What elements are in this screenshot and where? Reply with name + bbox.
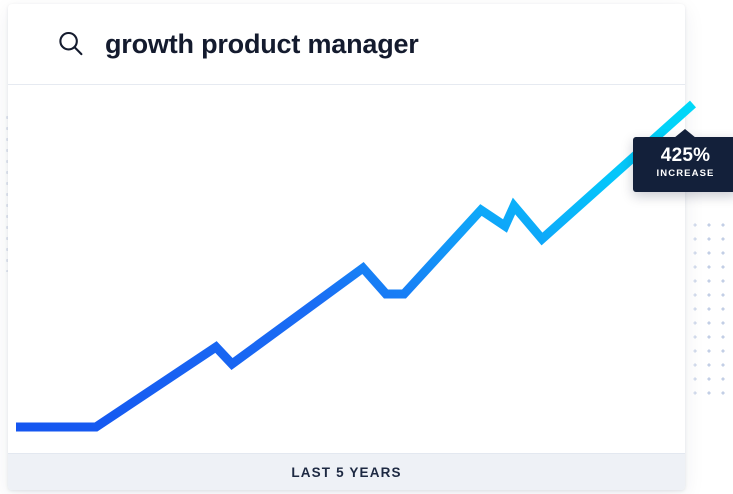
tooltip-arrow-icon	[674, 129, 696, 138]
trend-line-path	[16, 104, 693, 427]
screenshot-root: growth product manager 425% INC	[0, 0, 733, 494]
chart-svg	[8, 86, 693, 451]
search-input[interactable]: growth product manager	[105, 31, 419, 58]
search-bar[interactable]: growth product manager	[8, 4, 685, 85]
search-trend-card: growth product manager 425% INC	[8, 4, 685, 490]
growth-line-chart	[8, 86, 693, 451]
timeframe-label: LAST 5 YEARS	[291, 465, 401, 480]
search-icon[interactable]	[56, 29, 86, 59]
tooltip-value: 425%	[633, 146, 733, 166]
chart-footer: LAST 5 YEARS	[8, 453, 685, 490]
dot-pattern-right-decoration	[688, 218, 733, 398]
tooltip-label: INCREASE	[633, 168, 733, 179]
increase-tooltip: 425% INCREASE	[633, 137, 733, 192]
